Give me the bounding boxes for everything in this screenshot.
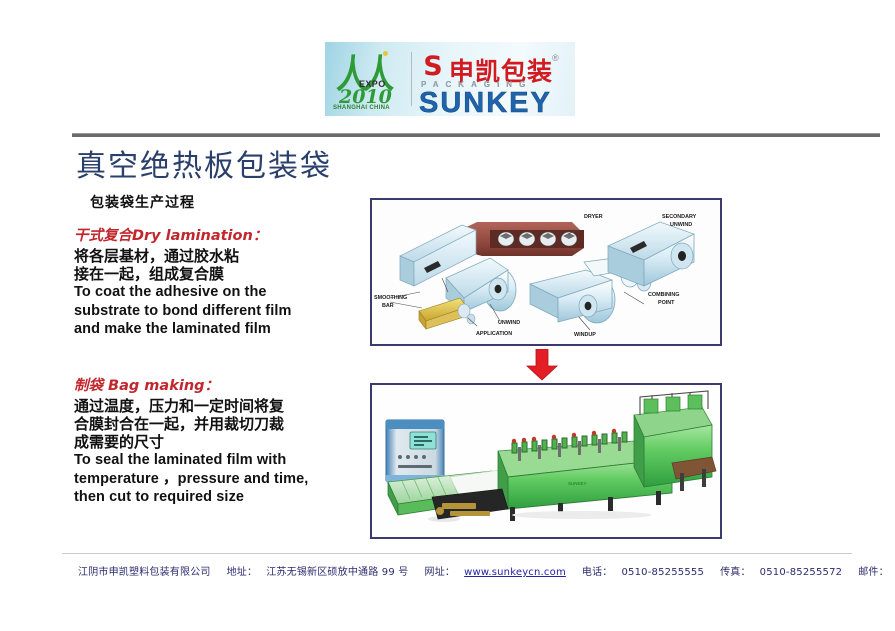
title-divider: [72, 133, 880, 137]
label-combining-point-2: POINT: [658, 300, 675, 306]
sunkey-s-mark-icon: S: [421, 55, 445, 79]
dry-lamination-en-line-1: To coat the adhesive on the: [74, 283, 291, 302]
page-subtitle: 包装袋生产过程: [90, 192, 195, 212]
expo-dot-icon: [383, 51, 388, 56]
footer-fax: 0510-85255572: [760, 567, 843, 578]
lamination-diagram-frame: DRYER SECONDARY UNWIND SMOOTHING BAR UNW…: [370, 198, 722, 346]
dry-lamination-cn-line-1: 将各层基材，通过胶水粘: [74, 247, 291, 265]
bag-making-machine-photo: SUNKEY: [372, 385, 720, 537]
footer-address-label: 地址：: [227, 567, 258, 578]
dry-lamination-en-line-2: substrate to bond different film: [74, 302, 291, 321]
footer-fax-label: 传真：: [720, 567, 751, 578]
bag-making-en-line-1: To seal the laminated film with: [74, 451, 308, 470]
dry-lamination-heading: 干式复合Dry lamination：: [74, 224, 291, 245]
expo-city-label: SHANGHAI CHINA: [333, 105, 390, 111]
expo-2010-logo: 人人 EXPO 2010 SHANGHAI CHINA: [325, 42, 411, 116]
dry-lamination-cn-line-2: 接在一起，组成复合膜: [74, 265, 291, 283]
down-arrow-icon: [525, 349, 559, 381]
bag-making-cn-line-3: 成需要的尺寸: [74, 433, 308, 451]
label-unwind: UNWIND: [498, 320, 520, 326]
footer-email-label: 邮件：: [858, 567, 889, 578]
label-secondary-unwind-1: SECONDARY: [662, 214, 697, 220]
logo-divider: [411, 52, 412, 106]
bag-making-cn-line-2: 合膜封合在一起，并用裁切刀裁: [74, 415, 308, 433]
label-smoothing-bar-2: BAR: [382, 303, 394, 309]
label-dryer: DRYER: [584, 214, 603, 220]
bag-making-heading: 制袋 Bag making：: [74, 374, 308, 395]
bag-making-en-line-2: temperature ，pressure and time,: [74, 470, 308, 489]
label-windup: WINDUP: [574, 332, 596, 338]
label-secondary-unwind-2: UNWIND: [670, 222, 692, 228]
label-combining-point-1: COMBINING: [648, 292, 679, 298]
bag-making-en-line-3: then cut to required size: [74, 488, 308, 507]
dry-lamination-text-block: 干式复合Dry lamination： 将各层基材，通过胶水粘 接在一起，组成复…: [74, 224, 291, 339]
bag-making-text-block: 制袋 Bag making： 通过温度，压力和一定时间将复 合膜封合在一起，并用…: [74, 374, 308, 507]
bag-making-cn-line-1: 通过温度，压力和一定时间将复: [74, 397, 308, 415]
dry-lamination-en-line-3: and make the laminated film: [74, 320, 291, 339]
footer-website-link[interactable]: www.sunkeycn.com: [464, 567, 566, 578]
sunkey-brand-label: SUNKEY: [419, 87, 552, 116]
slide: 人人 EXPO 2010 SHANGHAI CHINA S 申凯包装 ® PAC…: [0, 0, 895, 631]
label-application: APPLICATION: [476, 331, 512, 337]
brand-logo-banner: 人人 EXPO 2010 SHANGHAI CHINA S 申凯包装 ® PAC…: [325, 42, 575, 116]
bag-making-machine-frame: SUNKEY: [370, 383, 722, 539]
lamination-diagram: DRYER SECONDARY UNWIND SMOOTHING BAR UNW…: [372, 200, 720, 344]
page-title: 真空绝热板包装袋: [76, 141, 332, 185]
footer-address: 江苏无锡新区硕放中通路 99 号: [266, 567, 408, 578]
label-smoothing-bar-1: SMOOTHING: [374, 295, 407, 301]
footer: 江阴市申凯塑料包装有限公司地址：江苏无锡新区硕放中通路 99 号网址：www.s…: [78, 563, 868, 578]
footer-divider: [62, 553, 852, 554]
svg-text:SUNKEY: SUNKEY: [568, 481, 587, 486]
footer-company: 江阴市申凯塑料包装有限公司: [78, 567, 211, 578]
registered-trademark-icon: ®: [552, 53, 559, 63]
sunkey-logo: S 申凯包装 ® PACKAGING SUNKEY: [419, 42, 575, 116]
footer-web-label: 网址：: [425, 567, 456, 578]
footer-phone-label: 电话：: [582, 567, 613, 578]
footer-phone: 0510-85255555: [622, 567, 705, 578]
